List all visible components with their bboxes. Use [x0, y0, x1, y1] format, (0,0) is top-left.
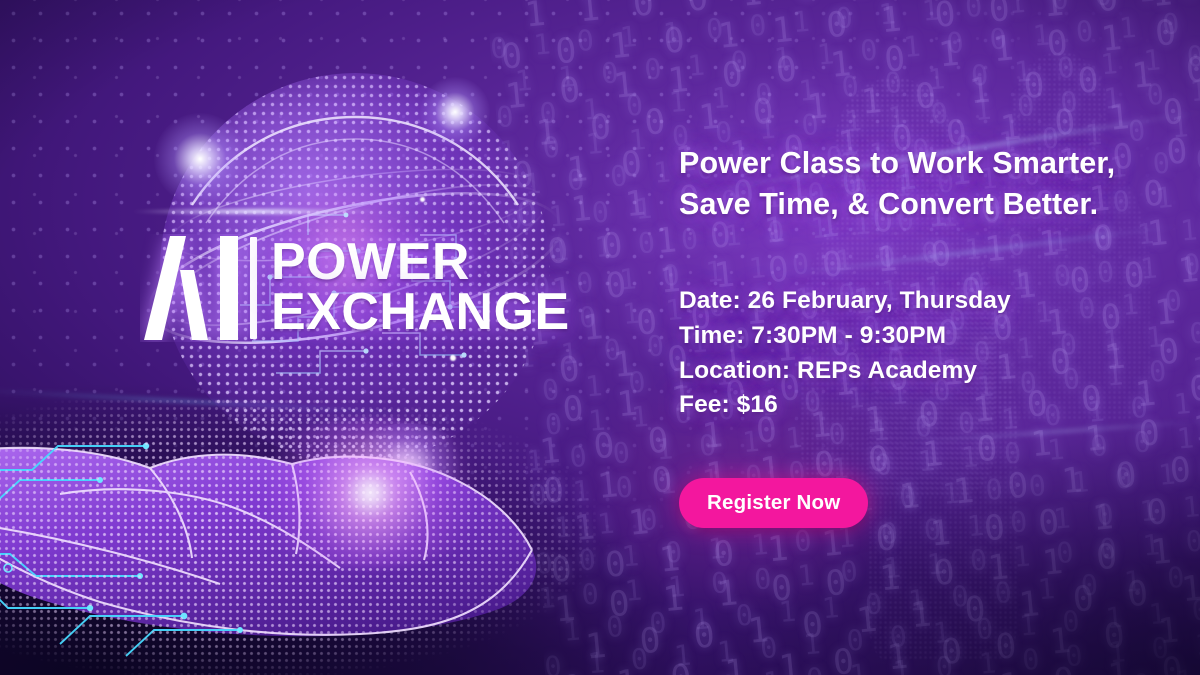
logo-word-exchange: EXCHANGE — [271, 288, 570, 338]
headline: Power Class to Work Smarter, Save Time, … — [679, 143, 1149, 226]
event-details: Date: 26 February, Thursday Time: 7:30PM… — [679, 284, 1149, 423]
logo-wordmark: POWER EXCHANGE — [271, 238, 570, 338]
spark-4 — [420, 197, 425, 202]
event-banner: 0 1 0 1 1 0 0 1 0 1 1 0 1 0 0 1 0 1 0 1 … — [0, 0, 1200, 675]
logo-divider — [250, 237, 257, 339]
palm-energy-glow — [240, 418, 500, 568]
digital-hand-graphic — [0, 398, 600, 675]
detail-time: Time: 7:30PM - 9:30PM — [679, 319, 1149, 354]
detail-location: Location: REPs Academy — [679, 354, 1149, 389]
ai-power-exchange-logo: POWER EXCHANGE — [140, 232, 570, 344]
spark-3 — [450, 355, 456, 361]
detail-date: Date: 26 February, Thursday — [679, 284, 1149, 319]
ai-monogram-icon — [140, 234, 248, 342]
ai-monogram-glyph — [140, 234, 248, 342]
detail-fee: Fee: $16 — [679, 388, 1149, 423]
logo-word-power: POWER — [271, 238, 570, 288]
register-now-button[interactable]: Register Now — [679, 478, 868, 528]
